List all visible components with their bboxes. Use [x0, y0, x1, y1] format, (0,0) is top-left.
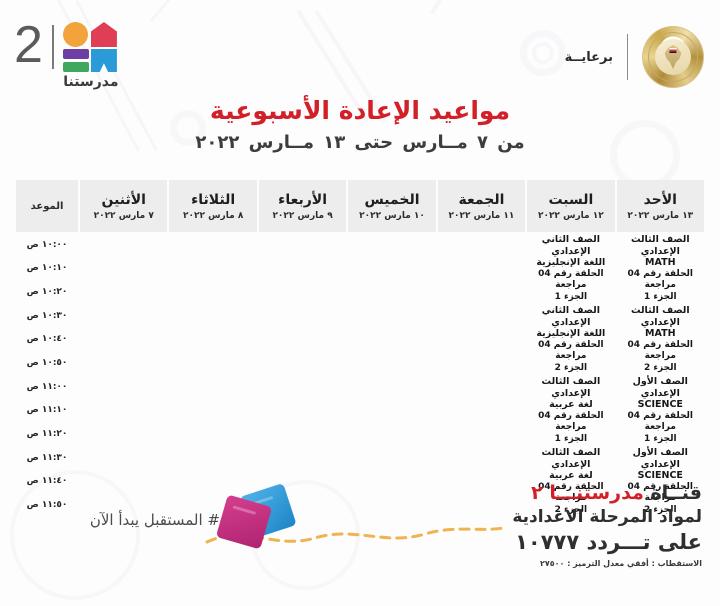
- session-grade: الصف الثالث الإعدادي: [527, 447, 614, 470]
- session-episode: الحلقة رقم 04 مراجعة: [527, 340, 614, 363]
- session-episode: الحلقة رقم 04 مراجعة: [527, 269, 614, 292]
- session-cell-sunday-1[interactable]: الصف الثالث الإعدادي MATH الحلقة رقم 04 …: [617, 234, 704, 303]
- session-cell-saturday-3[interactable]: الصف الثالث الإعدادي لغة عربية الحلقة رق…: [527, 376, 614, 445]
- page-subtitle: من ٧ مــارس حتى ١٣ مــارس ٢٠٢٢: [0, 132, 720, 153]
- day-date: ٧ مارس ٢٠٢٢: [82, 211, 165, 221]
- time-slot: ١١:١٠ ص: [16, 400, 78, 422]
- session-episode: الحلقة رقم 04 مراجعة: [527, 411, 614, 434]
- session-cell-saturday-2[interactable]: الصف الثاني الإعدادي اللغة الإنجليزية ال…: [527, 305, 614, 374]
- session-episode: الحلقة رقم 04 مراجعة: [617, 411, 704, 434]
- table-row: الصف الثالث الإعدادي MATH الحلقة رقم 04 …: [16, 234, 704, 256]
- channel-audience-line: لمواد المرحلة الاعدادية: [512, 507, 702, 527]
- time-slot: ١١:٢٠ ص: [16, 423, 78, 445]
- channel-number: 2: [14, 22, 43, 68]
- logo-house-shape: [91, 22, 117, 47]
- channel-tech-details: الاستقطاب : أفقي معدل الترميز : ٢٧٥٠٠: [512, 559, 702, 568]
- session-grade: الصف الثالث الإعدادي: [527, 376, 614, 399]
- day-name: الأربعاء: [261, 192, 344, 208]
- session-subject: لغة عربية: [527, 399, 614, 411]
- session-part: الجزء 1: [527, 292, 614, 304]
- title-block: مواعيد الإعادة الأسبوعية من ٧ مــارس حتى…: [0, 96, 720, 153]
- channel-divider: [52, 25, 54, 69]
- day-header-saturday: السبت ١٢ مارس ٢٠٢٢: [527, 180, 614, 232]
- day-date: ١١ مارس ٢٠٢٢: [440, 211, 523, 221]
- session-cell-saturday-1[interactable]: الصف الثاني الإعدادي اللغة الإنجليزية ال…: [527, 234, 614, 303]
- hashtag-slogan: # المستقبل يبدأ الآن: [90, 511, 220, 529]
- logo-arch-shape: [91, 49, 117, 72]
- day-name: الثلاثاء: [171, 192, 254, 208]
- day-header-tuesday: الثلاثاء ٨ مارس ٢٠٢٢: [169, 180, 256, 232]
- schedule-table-area: الأحد ١٣ مارس ٢٠٢٢ السبت ١٢ مارس ٢٠٢٢ ال…: [14, 178, 706, 478]
- sponsor-label: برعايــة: [565, 50, 613, 65]
- schedule-table: الأحد ١٣ مارس ٢٠٢٢ السبت ١٢ مارس ٢٠٢٢ ال…: [14, 178, 706, 518]
- session-part: الجزء 1: [617, 434, 704, 446]
- time-slot: ١١:٣٠ ص: [16, 447, 78, 469]
- session-grade: الصف الأول الإعدادي: [617, 376, 704, 399]
- channel-info-block: قنــاة مدرستنـــا ٢ لمواد المرحلة الاعدا…: [512, 482, 702, 568]
- time-slot: ١٠:٤٠ ص: [16, 329, 78, 351]
- day-header-thursday: الخميس ١٠ مارس ٢٠٢٢: [348, 180, 435, 232]
- session-grade: الصف الثالث الإعدادي: [617, 305, 704, 328]
- channel-name-line: قنــاة مدرستنـــا ٢: [512, 482, 702, 504]
- schedule-body: الصف الثالث الإعدادي MATH الحلقة رقم 04 …: [16, 234, 704, 516]
- day-header-wednesday: الأربعاء ٩ مارس ٢٠٢٢: [259, 180, 346, 232]
- session-part: الجزء 2: [617, 363, 704, 375]
- session-part: الجزء 1: [527, 434, 614, 446]
- day-name: الأحد: [619, 192, 702, 208]
- day-header-sunday: الأحد ١٣ مارس ٢٠٢٢: [617, 180, 704, 232]
- channel-name-prefix: قنــاة: [644, 482, 702, 504]
- madrasatna-logo: مدرستنا: [63, 22, 119, 90]
- logo-wordmark: مدرستنا: [63, 74, 119, 90]
- session-subject: اللغة الإنجليزية: [527, 328, 614, 340]
- session-part: الجزء 1: [617, 292, 704, 304]
- session-subject: اللغة الإنجليزية: [527, 257, 614, 269]
- session-subject: MATH: [617, 257, 704, 269]
- time-slot: ١٠:٣٠ ص: [16, 305, 78, 327]
- day-date: ١٠ مارس ٢٠٢٢: [350, 211, 433, 221]
- day-name: الأثنين: [82, 192, 165, 208]
- day-header-friday: الجمعة ١١ مارس ٢٠٢٢: [438, 180, 525, 232]
- session-grade: الصف الثاني الإعدادي: [527, 305, 614, 328]
- day-date: ٨ مارس ٢٠٢٢: [171, 211, 254, 221]
- session-grade: الصف الأول الإعدادي: [617, 447, 704, 470]
- logo-bars-shape: [63, 49, 89, 72]
- session-episode: الحلقة رقم 04 مراجعة: [617, 269, 704, 292]
- empty-days-region: [80, 234, 525, 516]
- envelopes-graphic: [215, 483, 305, 555]
- time-column-header: الموعد: [16, 180, 78, 232]
- day-name: الجمعة: [440, 192, 523, 208]
- session-subject: MATH: [617, 328, 704, 340]
- day-date: ٩ مارس ٢٠٢٢: [261, 211, 344, 221]
- table-header-row: الأحد ١٣ مارس ٢٠٢٢ السبت ١٢ مارس ٢٠٢٢ ال…: [16, 180, 704, 232]
- channel-name-highlight: مدرستنـــا ٢: [531, 482, 644, 504]
- session-episode: الحلقة رقم 04 مراجعة: [617, 340, 704, 363]
- time-slot: ١٠:١٠ ص: [16, 258, 78, 280]
- day-name: السبت: [529, 192, 612, 208]
- channel-brand-block: 2 مدرستنا: [14, 22, 119, 90]
- page-title: مواعيد الإعادة الأسبوعية: [0, 96, 720, 125]
- day-date: ١٣ مارس ٢٠٢٢: [619, 211, 702, 221]
- channel-frequency-line: على تـــردد ١٠٧٧٧: [512, 530, 702, 554]
- page-header: برعايــة 2 مدرستنا مواعيد الإعادة الأسبو…: [0, 0, 720, 175]
- session-part: الجزء 2: [527, 363, 614, 375]
- sponsor-block: برعايــة: [565, 26, 704, 88]
- logo-circle-shape: [63, 22, 88, 47]
- page-footer: قنــاة مدرستنـــا ٢ لمواد المرحلة الاعدا…: [0, 478, 720, 606]
- time-slot: ١٠:٠٠ ص: [16, 234, 78, 256]
- time-slot: ١٠:٢٠ ص: [16, 281, 78, 303]
- session-subject: SCIENCE: [617, 399, 704, 411]
- session-cell-sunday-3[interactable]: الصف الأول الإعدادي SCIENCE الحلقة رقم 0…: [617, 376, 704, 445]
- day-name: الخميس: [350, 192, 433, 208]
- session-grade: الصف الثاني الإعدادي: [527, 234, 614, 257]
- madrasatna-logo-icon: [63, 22, 119, 72]
- time-slot: ١١:٠٠ ص: [16, 376, 78, 398]
- day-date: ١٢ مارس ٢٠٢٢: [529, 211, 612, 221]
- day-header-monday: الأثنين ٧ مارس ٢٠٢٢: [80, 180, 167, 232]
- session-cell-sunday-2[interactable]: الصف الثالث الإعدادي MATH الحلقة رقم 04 …: [617, 305, 704, 374]
- brand-divider: [627, 34, 628, 80]
- ministry-emblem-icon: [642, 26, 704, 88]
- time-slot: ١٠:٥٠ ص: [16, 352, 78, 374]
- session-grade: الصف الثالث الإعدادي: [617, 234, 704, 257]
